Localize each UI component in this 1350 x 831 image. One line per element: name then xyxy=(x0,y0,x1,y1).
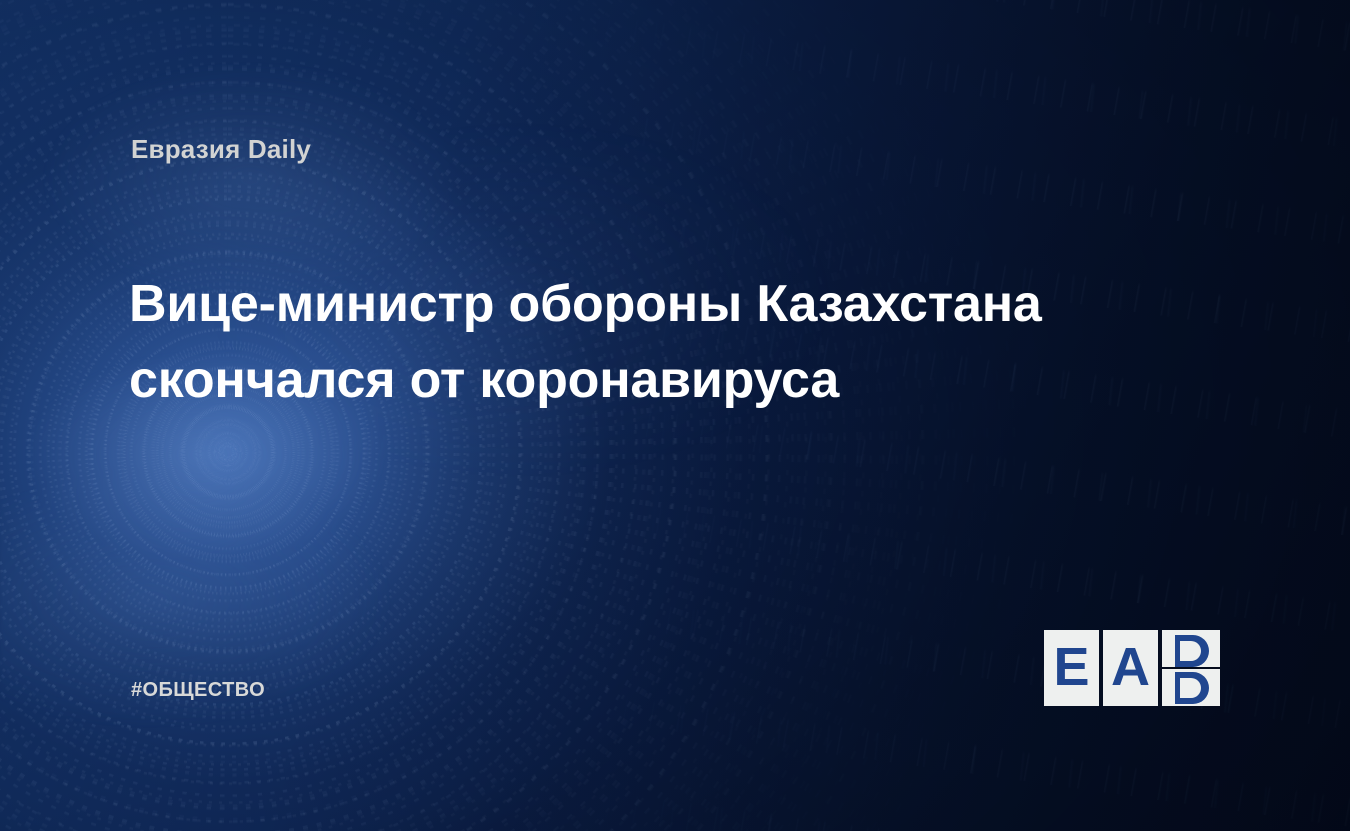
headline-line-1: Вице-министр обороны Казахстана xyxy=(129,266,1139,342)
news-card: Евразия Daily Вице-министр обороны Казах… xyxy=(0,0,1350,831)
logo-letter-e: E xyxy=(1053,640,1089,694)
logo-tile-a: A xyxy=(1103,630,1158,706)
brand-title: Евразия Daily xyxy=(131,136,311,162)
logo-tile-e: E xyxy=(1044,630,1099,706)
page-title: Вице-министр обороны Казахстана скончалс… xyxy=(129,266,1139,418)
logo-letter-d-mark xyxy=(1162,630,1220,706)
category-hashtag[interactable]: #ОБЩЕСТВО xyxy=(131,680,265,700)
ead-logo[interactable]: E A xyxy=(1044,630,1220,706)
headline-line-2: скончался от коронавируса xyxy=(129,342,1139,418)
card-content: Евразия Daily Вице-министр обороны Казах… xyxy=(0,0,1350,831)
logo-tile-d xyxy=(1162,630,1220,706)
logo-letter-a: A xyxy=(1111,640,1150,694)
